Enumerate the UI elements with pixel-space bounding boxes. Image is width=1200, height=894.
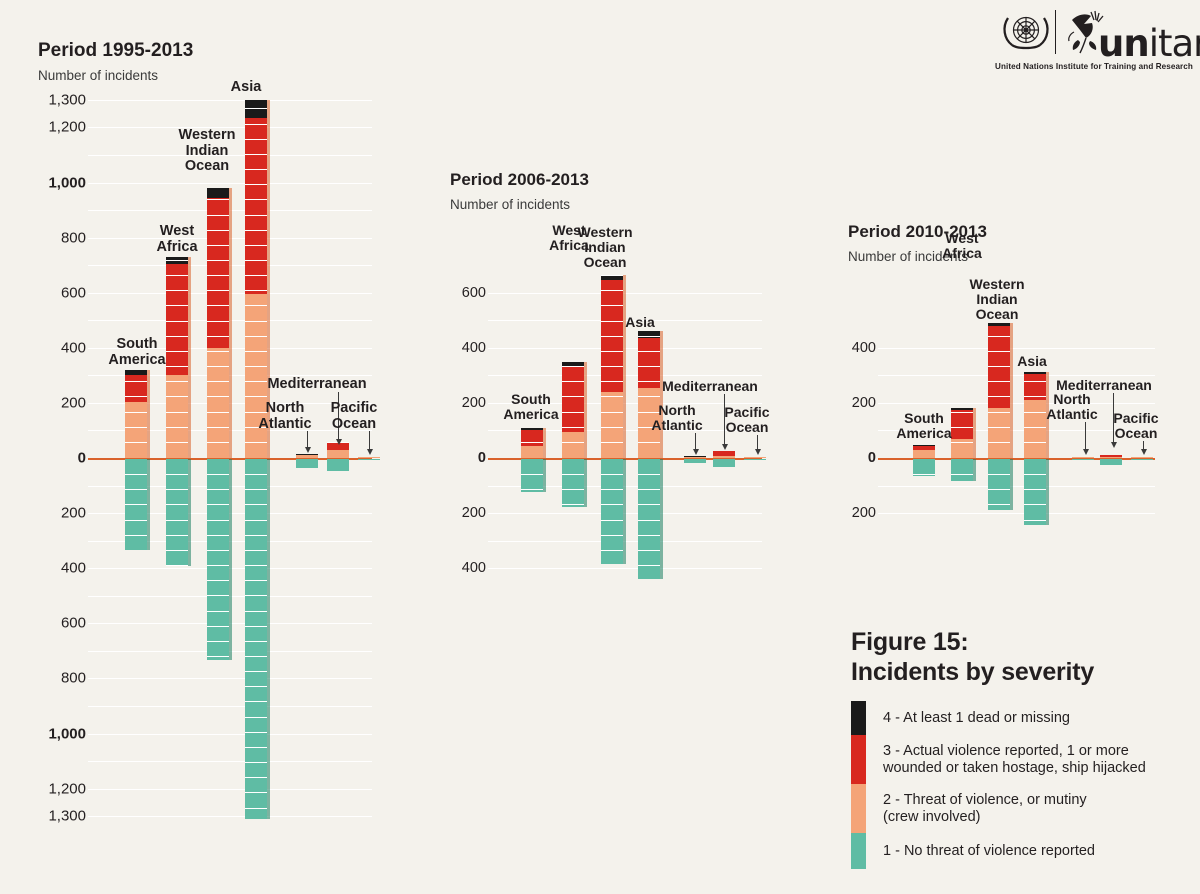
legend-item-severity-1[interactable]: 1 - No threat of violence reported — [883, 833, 1196, 869]
bar-tick — [1024, 412, 1046, 413]
legend-rows: 4 - At least 1 dead or missing3 - Actual… — [883, 701, 1196, 869]
legend-item-label: 3 - Actual violence reported, 1 or morew… — [883, 743, 1146, 777]
bar-shadow — [1010, 459, 1013, 510]
bar-shadow — [973, 459, 976, 481]
gridline — [878, 513, 1155, 514]
bar-tick — [1024, 442, 1046, 443]
legend-swatch-severity-2 — [851, 784, 866, 833]
figure-title-text: Incidents by severity — [851, 658, 1196, 688]
bar-positive-asia[interactable] — [1024, 372, 1046, 458]
category-label-pacific-ocean: PacificOcean — [1113, 411, 1158, 441]
label-leader-line — [1085, 422, 1086, 450]
bar-tick — [988, 412, 1010, 413]
figure-block: Figure 15: Incidents by severity 4 - At … — [851, 628, 1196, 869]
bar-positive-north-atlantic[interactable] — [1072, 457, 1094, 458]
bar-negative-north-atlantic[interactable] — [1072, 459, 1094, 460]
bar-tick — [951, 427, 973, 428]
bar-tick — [1024, 489, 1046, 490]
category-label-west-africa: WestAfrica — [942, 231, 982, 261]
bar-tick — [988, 489, 1010, 490]
bar-tick — [951, 442, 973, 443]
bar-tick — [1024, 474, 1046, 475]
bar-negative-pacific-ocean[interactable] — [1131, 459, 1153, 460]
bar-tick — [1024, 396, 1046, 397]
bar-segment-severity-4 — [951, 408, 973, 410]
bar-tick — [988, 336, 1010, 337]
legend-swatch-severity-3 — [851, 735, 866, 784]
y-axis-tick: 200 — [796, 395, 876, 411]
y-axis-tick: 0 — [796, 450, 876, 466]
bar-segment-severity-2 — [988, 408, 1010, 458]
legend-swatch-severity-4 — [851, 701, 866, 735]
figure-title: Figure 15: Incidents by severity — [851, 628, 1196, 687]
bar-tick — [1024, 381, 1046, 382]
bar-tick — [913, 474, 935, 475]
legend-item-severity-4[interactable]: 4 - At least 1 dead or missing — [883, 701, 1196, 735]
bar-shadow — [1046, 459, 1049, 525]
legend-item-label: 1 - No threat of violence reported — [883, 843, 1095, 860]
bar-tick — [988, 474, 1010, 475]
bar-negative-mediterranean[interactable] — [1100, 459, 1122, 465]
category-label-north-atlantic: NorthAtlantic — [1046, 392, 1097, 422]
legend: 4 - At least 1 dead or missing3 - Actual… — [851, 701, 1196, 869]
bar-tick — [1024, 520, 1046, 521]
y-axis-tick: 400 — [796, 340, 876, 356]
y-axis-tick: 200 — [796, 505, 876, 521]
category-label-south-america: SouthAmerica — [896, 411, 951, 441]
legend-item-severity-2[interactable]: 2 - Threat of violence, or mutiny(crew i… — [883, 784, 1196, 833]
bar-tick — [951, 474, 973, 475]
bar-shadow — [1010, 323, 1013, 458]
bar-negative-south-america[interactable] — [913, 459, 935, 476]
legend-item-severity-3[interactable]: 3 - Actual violence reported, 1 or morew… — [883, 735, 1196, 784]
bar-positive-mediterranean[interactable] — [1100, 455, 1122, 458]
bar-tick — [951, 412, 973, 413]
bar-tick — [988, 366, 1010, 367]
bar-tick — [988, 381, 1010, 382]
bar-tick — [988, 442, 1010, 443]
bar-negative-west-africa[interactable] — [951, 459, 973, 481]
bar-tick — [1024, 504, 1046, 505]
figure-number: Figure 15: — [851, 628, 1196, 658]
bar-segment-severity-3 — [913, 445, 935, 450]
bar-segment-severity-2 — [1100, 457, 1122, 458]
bar-segment-severity-4 — [1024, 372, 1046, 374]
category-label-asia: Asia — [1017, 354, 1047, 369]
bar-shadow — [973, 408, 976, 458]
legend-item-label: 2 - Threat of violence, or mutiny(crew i… — [883, 792, 1087, 826]
legend-swatch-severity-1 — [851, 833, 866, 869]
gridline — [878, 348, 1155, 349]
bar-negative-asia[interactable] — [1024, 459, 1046, 525]
label-leader-line — [1143, 441, 1144, 450]
bar-tick — [988, 504, 1010, 505]
legend-item-label: 4 - At least 1 dead or missing — [883, 710, 1070, 727]
bar-tick — [1024, 427, 1046, 428]
gridline — [878, 486, 1155, 487]
bar-positive-south-america[interactable] — [913, 445, 935, 458]
bar-segment-severity-2 — [1131, 457, 1153, 458]
legend-swatch-bar — [851, 701, 866, 869]
bar-segment-severity-2 — [1072, 457, 1094, 458]
bar-segment-severity-3 — [1100, 455, 1122, 457]
bar-segment-severity-2 — [913, 450, 935, 458]
bar-segment-severity-3 — [951, 410, 973, 439]
bar-positive-pacific-ocean[interactable] — [1131, 457, 1153, 458]
category-label-western-indian-ocean: WesternIndianOcean — [970, 277, 1025, 322]
bar-segment-severity-4 — [988, 323, 1010, 326]
bar-tick — [988, 351, 1010, 352]
category-label-mediterranean: Mediterranean — [1056, 378, 1152, 393]
bar-negative-western-indian-ocean[interactable] — [988, 459, 1010, 510]
bar-segment-severity-2 — [1024, 400, 1046, 458]
bar-positive-west-africa[interactable] — [951, 408, 973, 458]
bar-tick — [988, 396, 1010, 397]
bar-positive-western-indian-ocean[interactable] — [988, 323, 1010, 458]
bar-tick — [988, 427, 1010, 428]
bar-segment-severity-4 — [913, 445, 935, 446]
